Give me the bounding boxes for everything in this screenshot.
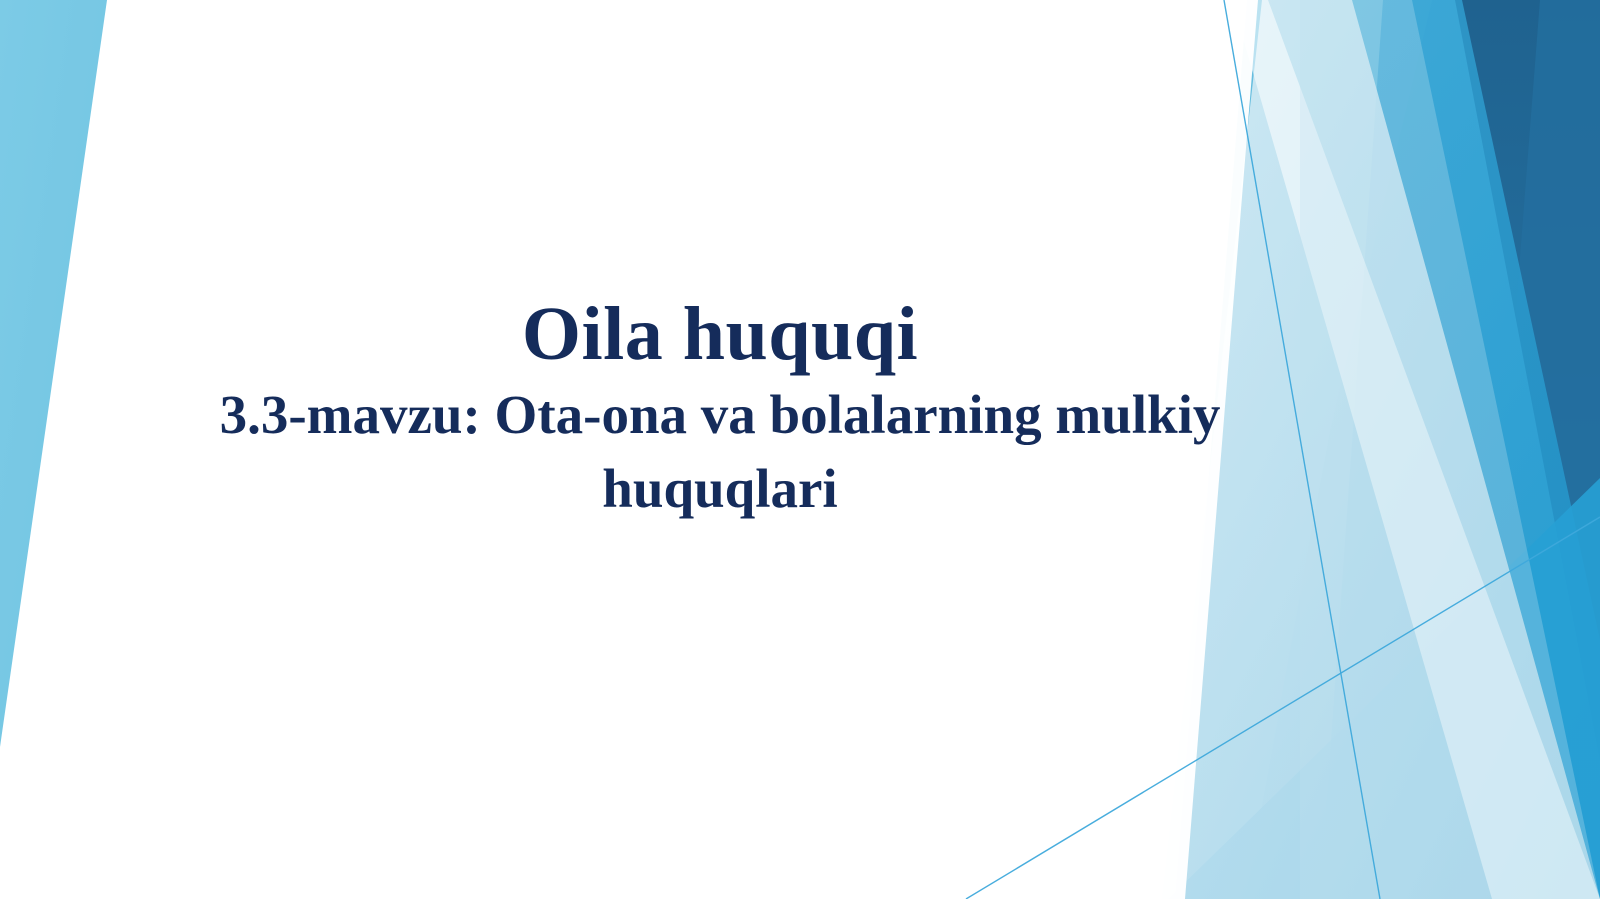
hairline-shallow [966, 517, 1600, 899]
page-subtitle: 3.3-mavzu: Ota-ona va bolalarning mulkiy… [200, 378, 1240, 527]
lower-right-triangle [1168, 478, 1600, 899]
right-mid-wedge [1320, 0, 1600, 899]
pale-cross-sheet [1300, 0, 1600, 899]
right-deep-column [1470, 0, 1600, 899]
page-title: Oila huquqi [200, 296, 1240, 374]
right-dark-band [1245, 0, 1600, 899]
presentation-slide: Oila huquqi 3.3-mavzu: Ota-ona va bolala… [0, 0, 1600, 899]
pale-highlight-strip [1232, 0, 1600, 899]
left-wedge-shape [0, 0, 107, 747]
title-text-block: Oila huquqi 3.3-mavzu: Ota-ona va bolala… [200, 296, 1240, 526]
hairline-steep [1224, 0, 1380, 899]
